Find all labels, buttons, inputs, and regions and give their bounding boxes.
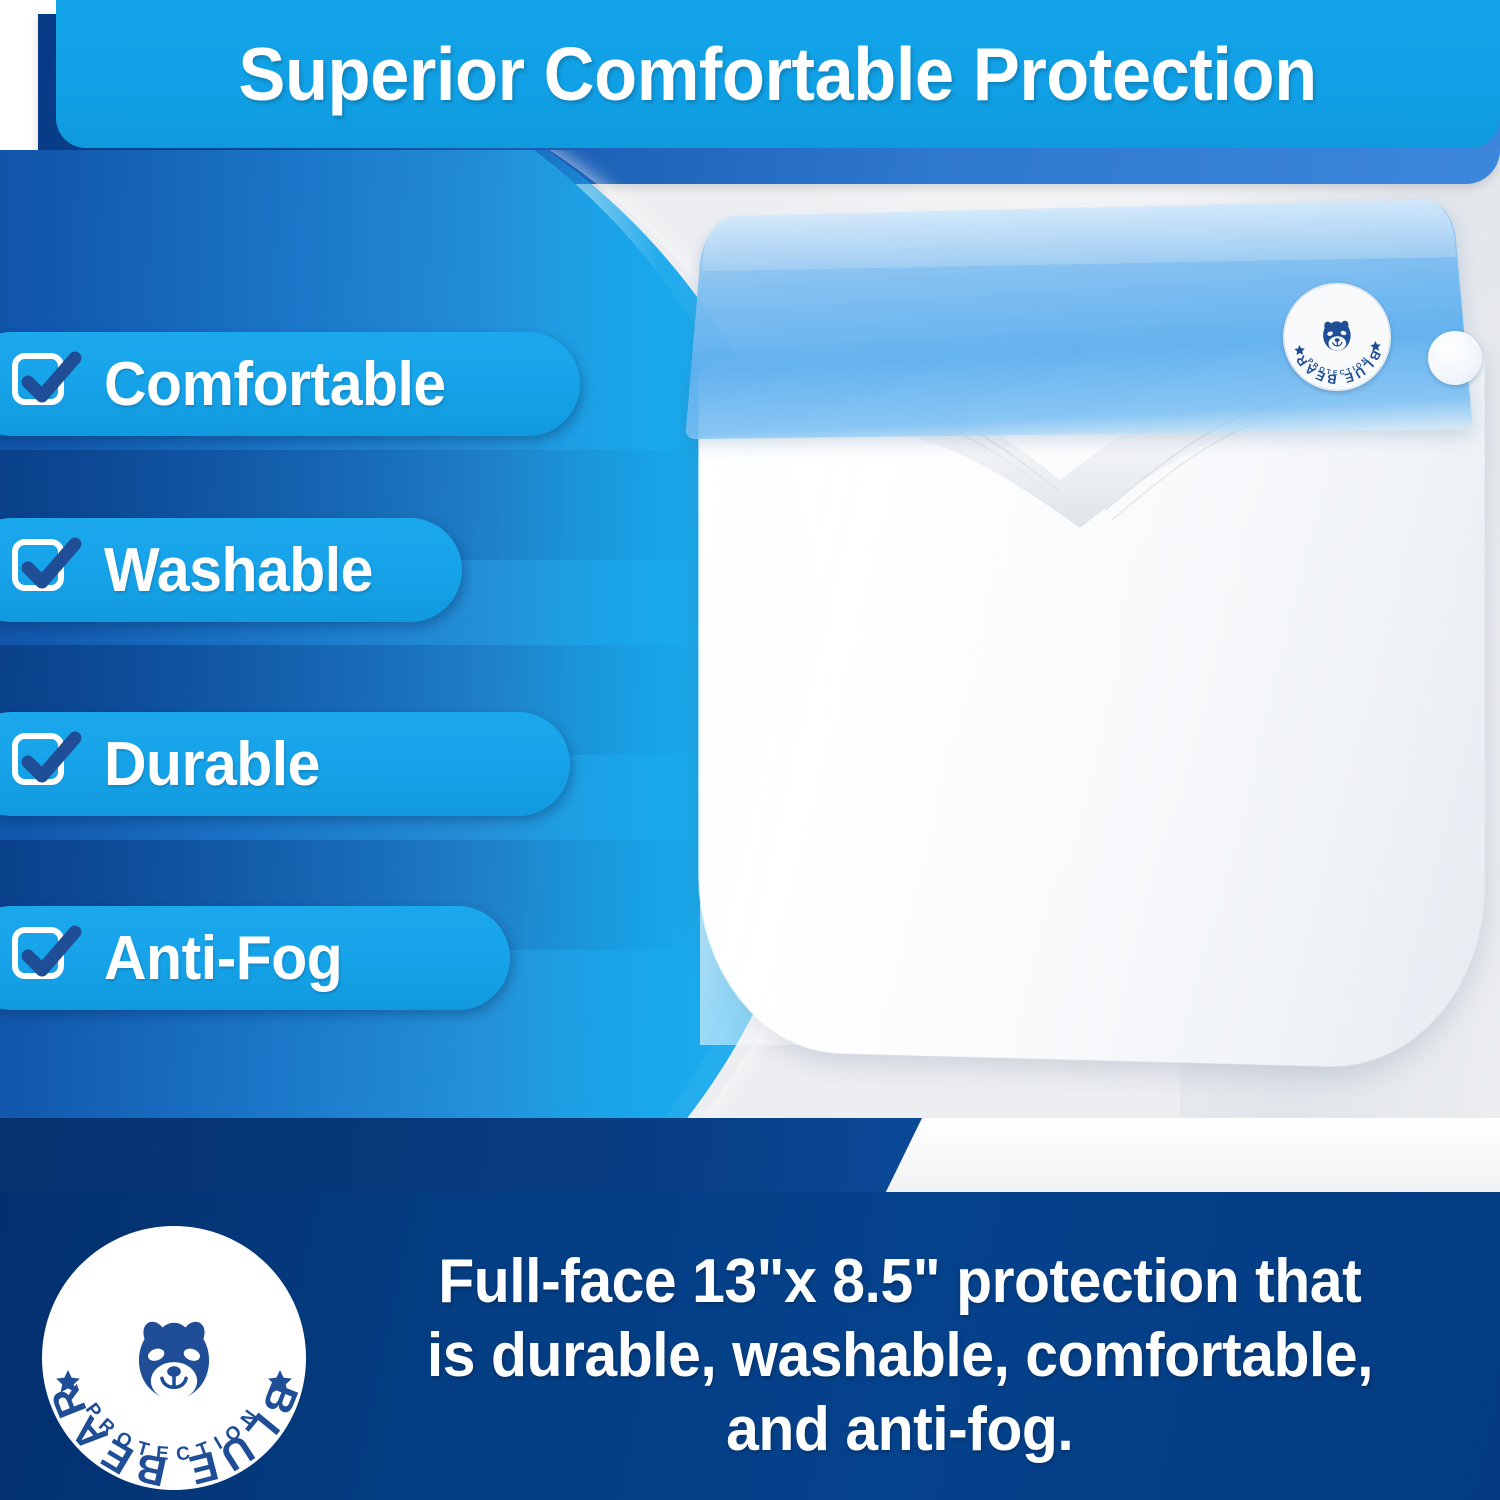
checkbox-checked-icon — [12, 539, 74, 601]
footer-description-line: and anti-fog. — [726, 1394, 1073, 1466]
page-title: Superior Comfortable Protection — [239, 31, 1317, 117]
feature-label: Washable — [104, 535, 373, 606]
checkbox-checked-icon — [12, 353, 74, 415]
checkbox-checked-icon — [12, 927, 74, 989]
blue-bear-protection-logo: BLUE BEAR PROTECTION — [38, 1222, 310, 1494]
feature-pill-durable[interactable]: Durable — [0, 712, 570, 816]
feature-pill-washable[interactable]: Washable — [0, 518, 462, 622]
feature-label: Durable — [104, 729, 320, 800]
face-shield-product-image: BLUE BEAR PROTECTION — [640, 195, 1500, 1065]
footer-description-line: is durable, washable, comfortable, — [427, 1320, 1373, 1392]
face-shield-snap-button — [1428, 331, 1482, 385]
blue-bear-logo-sticker: BLUE BEAR PROTECTION — [1280, 280, 1394, 394]
product-marketing-image: Superior Comfortable Protection Comforta… — [0, 0, 1500, 1500]
feature-label: Comfortable — [104, 349, 446, 420]
feature-pill-comfortable[interactable]: Comfortable — [0, 332, 580, 436]
footer-description-line: Full-face 13"x 8.5" protection that — [439, 1246, 1362, 1318]
checkbox-checked-icon — [12, 733, 74, 795]
feature-pill-anti-fog[interactable]: Anti-Fog — [0, 906, 510, 1010]
header-banner: Superior Comfortable Protection — [56, 0, 1500, 148]
footer-description: Full-face 13"x 8.5" protection that is d… — [335, 1222, 1465, 1490]
feature-label: Anti-Fog — [104, 923, 342, 994]
